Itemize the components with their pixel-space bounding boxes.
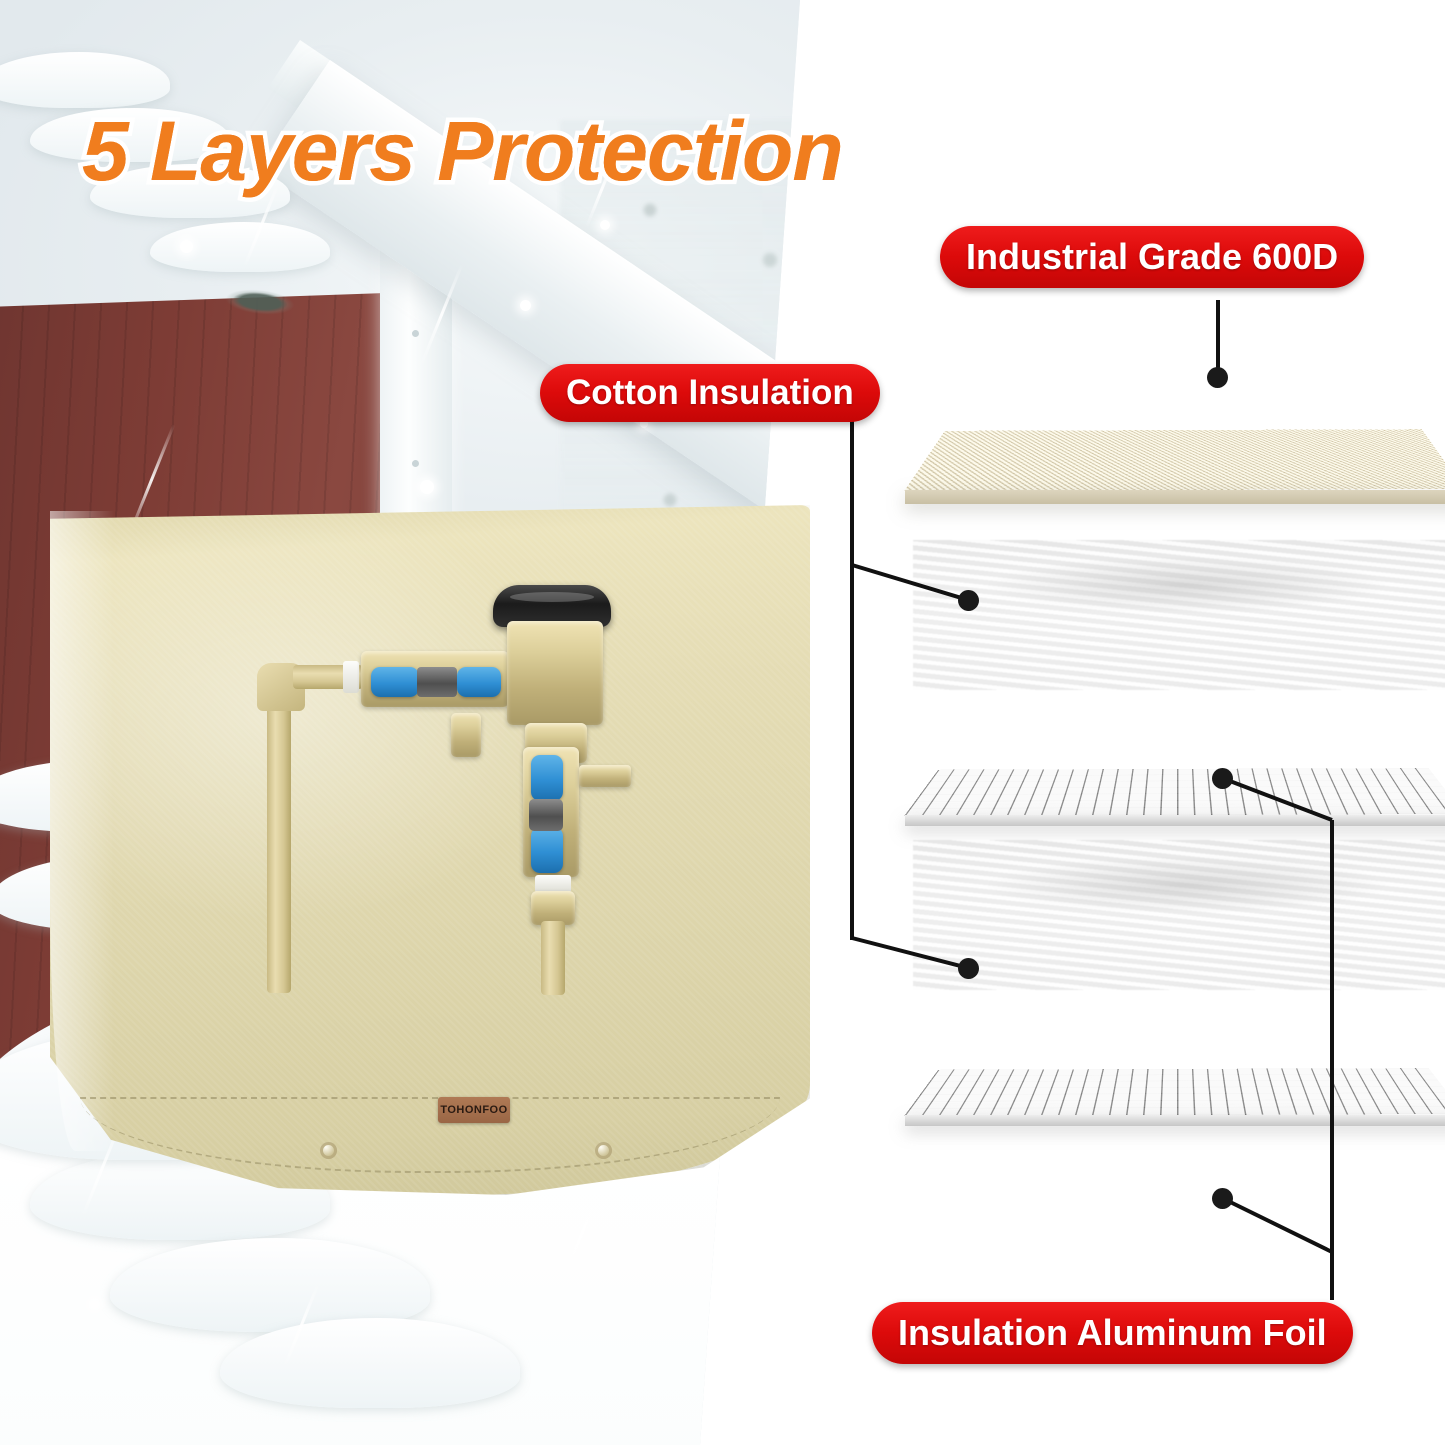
leader-dot-fabric bbox=[1207, 367, 1228, 388]
grommet bbox=[595, 1142, 612, 1159]
label-cotton-insulation[interactable]: Cotton Insulation bbox=[540, 364, 880, 422]
leader-branches-foil bbox=[1200, 760, 1445, 1320]
leader-branches-cotton bbox=[840, 420, 1000, 960]
page-title: 5 Layers Protection bbox=[82, 103, 843, 200]
test-cock-lower bbox=[451, 713, 481, 757]
label-industrial-grade-600d[interactable]: Industrial Grade 600D bbox=[940, 226, 1364, 288]
ball-valve-handle-horizontal-right bbox=[457, 667, 501, 697]
outlet-down-pipe bbox=[541, 921, 565, 995]
valve-stem-nut-horizontal bbox=[417, 667, 457, 697]
backflow-preventer-valve-assembly bbox=[235, 575, 655, 995]
product-infographic: TOHONFOO bbox=[0, 0, 1445, 1445]
inlet-union-band bbox=[343, 661, 359, 693]
brand-label-tag: TOHONFOO bbox=[438, 1097, 510, 1123]
label-cotton-insulation-text: Cotton Insulation bbox=[566, 373, 854, 413]
valve-stem-nut-vertical bbox=[529, 799, 563, 831]
brand-name: TOHONFOO bbox=[440, 1104, 507, 1116]
side-test-cock bbox=[579, 765, 631, 787]
grommet bbox=[320, 1142, 337, 1159]
leader-dot-foil-lower bbox=[1212, 1188, 1233, 1209]
label-insulation-aluminum-foil-text: Insulation Aluminum Foil bbox=[898, 1312, 1327, 1354]
label-insulation-aluminum-foil[interactable]: Insulation Aluminum Foil bbox=[872, 1302, 1353, 1364]
left-riser-pipe bbox=[267, 693, 291, 993]
ball-valve-handle-horizontal-left bbox=[371, 667, 419, 697]
outlet-coupling bbox=[531, 891, 575, 925]
leader-dot-foil-upper bbox=[1212, 768, 1233, 789]
cover-left-fold bbox=[50, 511, 114, 1151]
ball-valve-handle-vertical-top bbox=[531, 755, 563, 801]
leader-dot-cotton-lower bbox=[958, 958, 979, 979]
main-valve-body bbox=[507, 621, 603, 725]
leader-dot-cotton-upper bbox=[958, 590, 979, 611]
ball-valve-handle-vertical-bottom bbox=[531, 827, 563, 873]
label-industrial-grade-600d-text: Industrial Grade 600D bbox=[966, 236, 1338, 278]
